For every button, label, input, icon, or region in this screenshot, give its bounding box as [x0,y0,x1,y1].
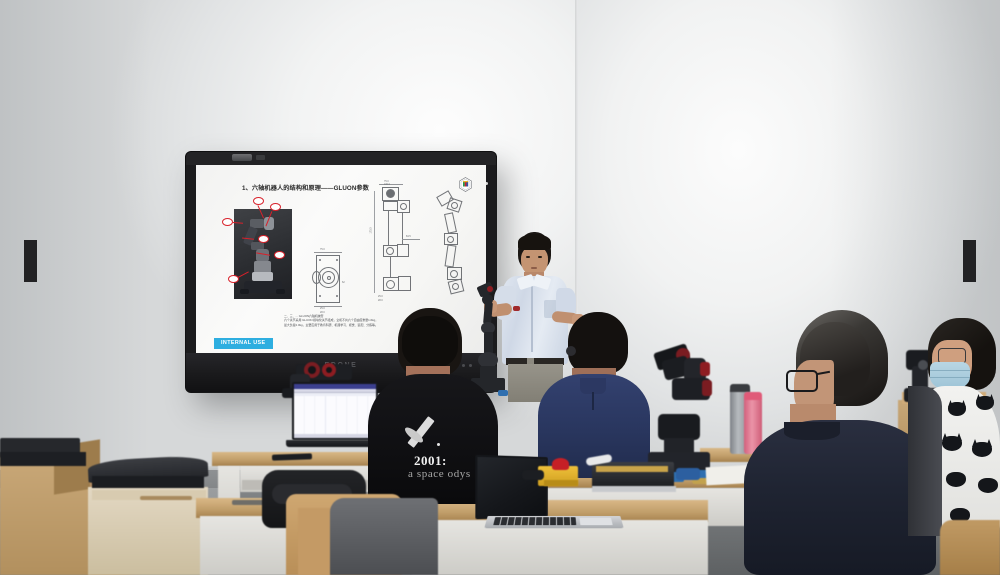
attendee-navy-polo-hair [568,312,628,374]
mask-pleat [930,377,970,378]
connector-blue [676,468,700,480]
bag-strap-black [908,386,942,536]
demo-arm-foot [498,390,508,396]
dark-panel-base [0,452,86,466]
presenter-hair-front [518,234,551,250]
presenter-eye-right [538,256,542,258]
laptop-front-silver[interactable] [475,455,547,519]
presenter-mouth [531,267,537,269]
controller-label-strip [596,466,668,472]
cat-face-print [978,478,998,493]
presenter-shirt-placket [531,278,533,352]
camera-bar-icon [232,154,252,161]
estop-cable [522,470,544,480]
robot-arm-right-joint-2 [658,414,700,440]
camera-lens-icon [918,360,928,370]
thermos-cap [730,384,750,392]
glasses-temple-icon [566,346,576,356]
demo-arm-link-lower [484,332,493,354]
gimbal-hub-2 [326,367,332,373]
presentation-room-photo: 1、六轴机器人的结构和原理——GLUON参数 [0,0,1000,575]
presenter-eye-left [526,256,530,258]
laptop-front-keyboard[interactable] [484,516,624,528]
callout-label [274,251,285,259]
cat-face-print [946,472,966,487]
bottle-cap-pink [744,392,762,400]
mask-pleat [930,370,970,371]
company-hex-logo [459,177,472,192]
controller-base-plate [592,486,676,492]
robot-arm-right-accent-2 [702,380,712,396]
panel-stand-left [24,240,37,282]
callout-label [253,197,264,205]
tshirt-neckline [784,422,840,440]
chair-wooden-right[interactable] [940,520,1000,575]
carton-handle-slot [140,496,192,500]
emergency-stop-button[interactable] [552,458,569,470]
callout-label [222,218,233,226]
demo-arm-joint-red [487,286,493,292]
laptop-left[interactable] [292,382,378,440]
sensor-icon [256,155,265,160]
tshirt-print-subtitle: a space odys [408,468,471,480]
tshirt-print-dot [437,443,440,446]
gimbal-hub [308,366,316,374]
wall-shading-left [0,0,150,500]
robot-arm-right-accent [700,362,710,376]
estop-base [544,480,578,486]
joint-flange-cad-front-view: 75.0 25.0 28.0 62 [308,251,350,307]
attendee-hair-shading [402,316,458,368]
panel-stand-right [963,240,976,282]
tshirt-print-title: 2001: [414,453,447,469]
glasses-icon [786,370,818,392]
arm-assembly-cad-dimensioned: 75.0 100.0 170.0 84.5 25.0 28.0 [366,181,424,311]
internal-use-badge: INTERNAL USE [214,338,273,349]
callout-label [258,235,269,243]
dark-panel-riser [92,476,204,488]
arm-isometric-cad [422,191,478,309]
polo-placket [592,392,594,410]
callout-label [270,203,281,211]
bag-gray [330,498,438,575]
carton-front-panel [88,487,208,575]
presenter-bracelet [513,306,520,311]
